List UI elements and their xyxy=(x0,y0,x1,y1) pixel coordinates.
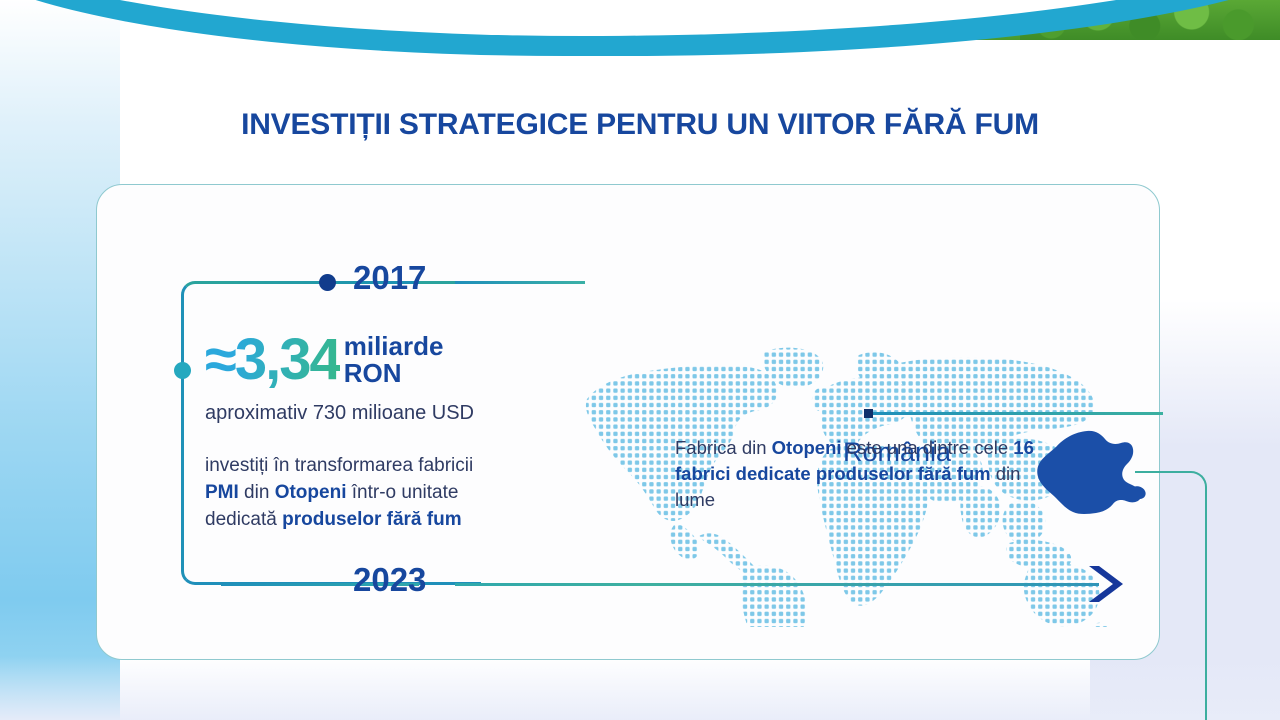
infographic-card: 2017 ≈3,34 miliarde RON aproximativ 730 … xyxy=(96,184,1160,660)
desc-bold-otopeni: Otopeni xyxy=(275,482,347,503)
investment-unit-line1: miliarde xyxy=(344,333,444,360)
romania-country-shape xyxy=(1033,427,1151,529)
background-bottom-tint xyxy=(0,656,1280,720)
header-banner xyxy=(0,0,1280,56)
timeline-label-start-year: 2017 xyxy=(353,259,426,297)
factory-caption: Fabrica din Otopeni este una dintre cele… xyxy=(675,435,1037,513)
timeline-label-end-year: 2023 xyxy=(353,561,426,599)
timeline-bracket-dot xyxy=(174,362,191,379)
desc-plain-din: din xyxy=(239,482,275,503)
timeline-line-2017-right xyxy=(455,281,585,284)
desc-line1: investiți în transformarea fabricii xyxy=(205,455,473,476)
desc-bold-pmi: PMI xyxy=(205,482,239,503)
investment-usd-equivalent: aproximativ 730 milioane USD xyxy=(205,402,474,425)
timeline-dot-2017 xyxy=(319,274,336,291)
investment-value: ≈3,34 xyxy=(205,331,340,389)
investment-unit: miliarde RON xyxy=(344,333,444,386)
romania-map-pin xyxy=(864,409,873,418)
investment-unit-line2: RON xyxy=(344,360,444,387)
timeline-line-2023-right xyxy=(455,583,1099,586)
desc-plain-unitate: într-o unitate xyxy=(346,482,458,503)
caption-bold-otopeni: Otopeni xyxy=(772,437,842,458)
caption-part1: Fabrica din xyxy=(675,437,772,458)
desc-bold-produse: produselor fără fum xyxy=(282,509,461,530)
desc-plain-dedicata: dedicată xyxy=(205,509,282,530)
investment-description: investiți în transformarea fabricii PMI … xyxy=(205,453,565,534)
investment-figure: ≈3,34 miliarde RON xyxy=(205,331,443,389)
investment-amount: 3,34 xyxy=(235,327,340,392)
approx-symbol: ≈ xyxy=(205,327,235,392)
page-title: INVESTIȚII STRATEGICE PENTRU UN VIITOR F… xyxy=(0,108,1280,142)
romania-connector-line xyxy=(873,412,1163,415)
caption-part2: este una dintre cele xyxy=(842,437,1014,458)
